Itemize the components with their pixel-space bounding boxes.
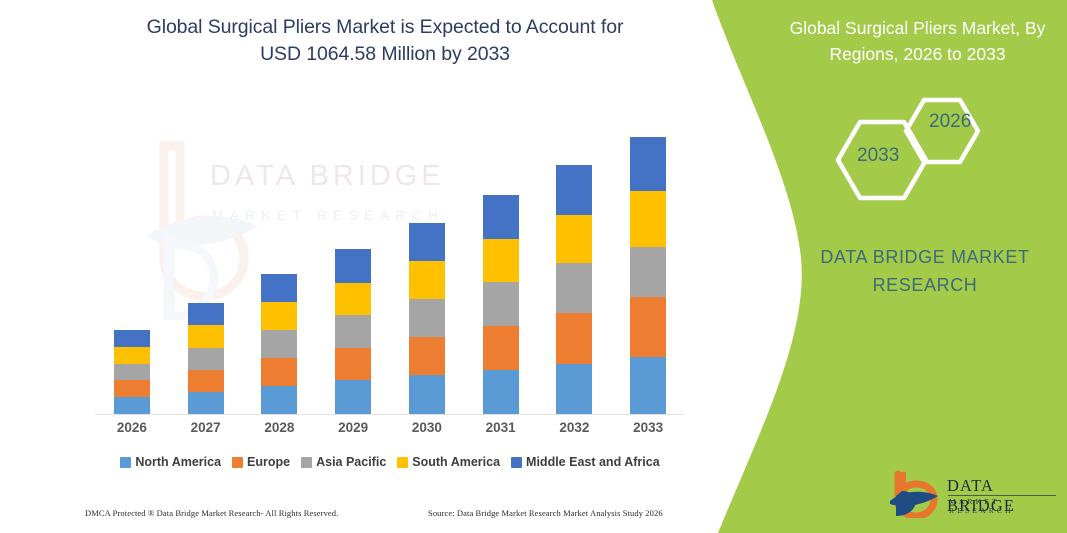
bar-segment-asia-pacific	[556, 263, 592, 313]
bar-segment-middle-east-and-africa	[114, 330, 150, 347]
stacked-bar	[556, 165, 592, 414]
chart-axis-line	[95, 414, 685, 415]
legend-item-south-america[interactable]: South America	[397, 455, 500, 469]
bar-column-2030	[390, 120, 464, 414]
brand-line-1: DATA BRIDGE MARKET	[820, 247, 1029, 267]
x-axis-label-2031: 2031	[464, 420, 538, 435]
bar-segment-middle-east-and-africa	[409, 223, 445, 261]
x-axis-label-2028: 2028	[243, 420, 317, 435]
legend-item-middle-east-and-africa[interactable]: Middle East and Africa	[511, 455, 660, 469]
bar-segment-south-america	[188, 325, 224, 348]
stacked-bar	[335, 249, 371, 414]
stacked-bar-chart	[95, 120, 685, 414]
bar-segment-north-america	[409, 375, 445, 414]
panel-title: Global Surgical Pliers Market, By Region…	[775, 15, 1060, 67]
legend-swatch-icon	[232, 457, 243, 468]
bar-segment-south-america	[409, 261, 445, 299]
legend-item-north-america[interactable]: North America	[120, 455, 221, 469]
bar-segment-asia-pacific	[188, 348, 224, 370]
legend-label: North America	[135, 455, 221, 469]
bar-segment-middle-east-and-africa	[261, 274, 297, 301]
x-axis-label-2029: 2029	[316, 420, 390, 435]
bar-segment-asia-pacific	[335, 315, 371, 348]
bar-segment-south-america	[114, 347, 150, 364]
bar-segment-north-america	[261, 386, 297, 414]
bar-segment-south-america	[556, 215, 592, 263]
stacked-bar	[409, 223, 445, 414]
legend-item-asia-pacific[interactable]: Asia Pacific	[301, 455, 386, 469]
footer-source: Source: Data Bridge Market Research Mark…	[428, 508, 663, 518]
bar-segment-middle-east-and-africa	[335, 249, 371, 283]
bar-segment-asia-pacific	[483, 282, 519, 326]
bar-segment-south-america	[630, 191, 666, 247]
bar-segment-south-america	[335, 283, 371, 316]
stacked-bar	[188, 303, 224, 414]
hexagon-2026-label: 2026	[929, 111, 971, 133]
legend-item-europe[interactable]: Europe	[232, 455, 290, 469]
brand-name-panel: DATA BRIDGE MARKET RESEARCH	[800, 243, 1050, 299]
bar-segment-middle-east-and-africa	[483, 195, 519, 239]
bar-segment-north-america	[556, 364, 592, 414]
x-axis-label-2026: 2026	[95, 420, 169, 435]
bar-segment-asia-pacific	[114, 364, 150, 381]
infographic-canvas: Global Surgical Pliers Market is Expecte…	[0, 0, 1067, 533]
bar-segment-europe	[483, 326, 519, 370]
legend-swatch-icon	[397, 457, 408, 468]
bar-segment-middle-east-and-africa	[188, 303, 224, 325]
bar-column-2028	[243, 120, 317, 414]
bar-segment-asia-pacific	[630, 247, 666, 297]
logo-divider	[948, 495, 1056, 496]
x-axis-label-2033: 2033	[611, 420, 685, 435]
bar-segment-europe	[335, 348, 371, 381]
legend-label: Europe	[247, 455, 290, 469]
data-bridge-logo: DATA BRIDGE MARKET RESEARCH	[886, 470, 1066, 518]
legend-swatch-icon	[120, 457, 131, 468]
bar-column-2031	[464, 120, 538, 414]
footer-copyright: DMCA Protected ® Data Bridge Market Rese…	[85, 508, 338, 518]
bar-column-2029	[316, 120, 390, 414]
page-title: Global Surgical Pliers Market is Expecte…	[130, 14, 640, 68]
bar-segment-asia-pacific	[261, 330, 297, 358]
bar-segment-north-america	[335, 380, 371, 414]
bar-segment-europe	[114, 380, 150, 397]
logo-subtitle: MARKET RESEARCH	[949, 497, 1066, 515]
bar-column-2032	[538, 120, 612, 414]
legend-swatch-icon	[511, 457, 522, 468]
bar-segment-asia-pacific	[409, 299, 445, 338]
hexagon-2033-label: 2033	[857, 145, 899, 167]
stacked-bar	[630, 137, 666, 414]
x-axis-label-2032: 2032	[538, 420, 612, 435]
stacked-bar	[483, 195, 519, 414]
x-axis-labels: 20262027202820292030203120322033	[95, 420, 685, 435]
bar-segment-middle-east-and-africa	[556, 165, 592, 214]
bar-segment-north-america	[630, 357, 666, 414]
bar-segment-europe	[556, 313, 592, 363]
bar-column-2033	[611, 120, 685, 414]
legend-label: South America	[412, 455, 500, 469]
brand-line-2: RESEARCH	[873, 275, 978, 295]
x-axis-label-2030: 2030	[390, 420, 464, 435]
bar-segment-europe	[261, 358, 297, 385]
bar-segment-north-america	[188, 392, 224, 414]
legend-swatch-icon	[301, 457, 312, 468]
bar-segment-europe	[630, 297, 666, 357]
bar-segment-south-america	[261, 302, 297, 330]
chart-legend: North AmericaEuropeAsia PacificSouth Ame…	[95, 455, 685, 469]
legend-label: Asia Pacific	[316, 455, 386, 469]
bar-segment-south-america	[483, 239, 519, 282]
bar-segment-north-america	[483, 370, 519, 414]
stacked-bar	[114, 330, 150, 414]
bar-segment-europe	[409, 337, 445, 375]
bar-segment-europe	[188, 370, 224, 392]
bar-segment-middle-east-and-africa	[630, 137, 666, 192]
stacked-bar	[261, 274, 297, 414]
hexagon-group: 2026 2033	[820, 90, 1060, 220]
legend-label: Middle East and Africa	[526, 455, 660, 469]
bar-column-2026	[95, 120, 169, 414]
bar-segment-north-america	[114, 397, 150, 414]
x-axis-label-2027: 2027	[169, 420, 243, 435]
bar-column-2027	[169, 120, 243, 414]
